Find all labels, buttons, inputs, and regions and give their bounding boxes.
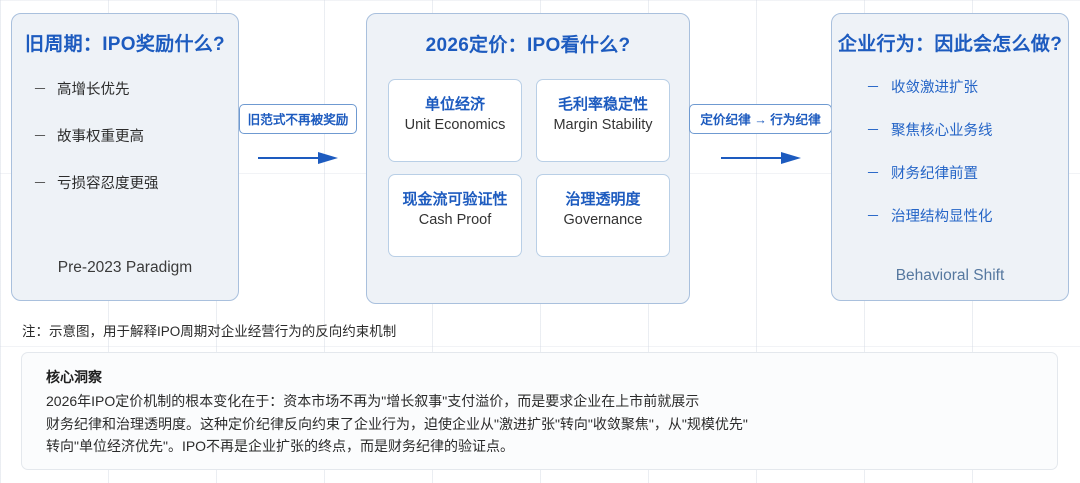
- panel-corporate-behavior: 企业行为：因此会怎么做? － 收敛激进扩张 － 聚焦核心业务线 － 财务纪律前置…: [831, 13, 1069, 301]
- criteria-card[interactable]: 治理透明度 Governance: [536, 174, 670, 257]
- criteria-card[interactable]: 单位经济 Unit Economics: [388, 79, 522, 162]
- connector-pricing-to-behavior-label: 定价纪律 → 行为纪律: [689, 104, 832, 134]
- panel-corporate-behavior-title: 企业行为：因此会怎么做?: [832, 29, 1068, 56]
- arrow-right-icon: [256, 151, 340, 165]
- criteria-card-title-en: Unit Economics: [405, 116, 506, 136]
- dash-icon: －: [866, 209, 880, 223]
- criteria-card-title-cn: 现金流可验证性: [402, 191, 507, 210]
- dash-icon: －: [866, 80, 880, 94]
- core-insight-line: 财务纪律和治理透明度。这种定价纪律反向约束了企业行为，迫使企业从"激进扩张"转向…: [46, 413, 1057, 436]
- connector-pricing-to-behavior: 定价纪律 → 行为纪律: [689, 104, 832, 165]
- criteria-card[interactable]: 毛利率稳定性 Margin Stability: [536, 79, 670, 162]
- dash-icon: －: [33, 129, 47, 143]
- pricing-criteria-grid: 单位经济 Unit Economics 毛利率稳定性 Margin Stabil…: [388, 79, 670, 257]
- panel-old-cycle: 旧周期：IPO奖励什么? － 高增长优先 － 故事权重更高 － 亏损容忍度更强 …: [11, 13, 239, 301]
- panel-2026-pricing-title: 2026定价：IPO看什么?: [367, 30, 689, 57]
- list-item: － 治理结构显性化: [866, 205, 1068, 226]
- criteria-card-title-en: Margin Stability: [553, 116, 652, 136]
- criteria-card-title-cn: 治理透明度: [565, 191, 640, 210]
- criteria-card-title-en: Cash Proof: [419, 211, 492, 231]
- connector-old-to-pricing-label: 旧范式不再被奖励: [239, 104, 357, 134]
- list-item-label: 亏损容忍度更强: [57, 172, 159, 193]
- list-item: － 亏损容忍度更强: [33, 172, 238, 193]
- list-item-label: 治理结构显性化: [891, 205, 993, 226]
- list-item-label: 故事权重更高: [57, 125, 144, 146]
- dash-icon: －: [866, 123, 880, 137]
- behavior-footnote: Behavioral Shift: [832, 267, 1068, 285]
- list-item-label: 聚焦核心业务线: [891, 119, 993, 140]
- core-insight-title: 核心洞察: [46, 367, 1057, 387]
- criteria-card[interactable]: 现金流可验证性 Cash Proof: [388, 174, 522, 257]
- panel-2026-pricing: 2026定价：IPO看什么? 单位经济 Unit Economics 毛利率稳定…: [366, 13, 690, 304]
- connector-old-to-pricing: 旧范式不再被奖励: [239, 104, 357, 165]
- criteria-card-title-cn: 单位经济: [425, 96, 485, 115]
- core-insight-box: 核心洞察 2026年IPO定价机制的根本变化在于：资本市场不再为"增长叙事"支付…: [21, 352, 1058, 470]
- dash-icon: －: [866, 166, 880, 180]
- list-item-label: 财务纪律前置: [891, 162, 978, 183]
- core-insight-line: 2026年IPO定价机制的根本变化在于：资本市场不再为"增长叙事"支付溢价，而是…: [46, 390, 1057, 413]
- list-item: － 故事权重更高: [33, 125, 238, 146]
- old-cycle-footnote: Pre-2023 Paradigm: [12, 259, 238, 277]
- criteria-card-title-cn: 毛利率稳定性: [558, 96, 648, 115]
- list-item-label: 高增长优先: [57, 78, 130, 99]
- core-insight-line: 转向"单位经济优先"。IPO不再是企业扩张的终点，而是财务纪律的验证点。: [46, 435, 1057, 458]
- list-item: － 收敛激进扩张: [866, 76, 1068, 97]
- list-item: － 聚焦核心业务线: [866, 119, 1068, 140]
- behavior-bullet-list: － 收敛激进扩张 － 聚焦核心业务线 － 财务纪律前置 － 治理结构显性化: [832, 76, 1068, 226]
- criteria-card-title-en: Governance: [564, 211, 643, 231]
- old-cycle-bullet-list: － 高增长优先 － 故事权重更高 － 亏损容忍度更强: [12, 78, 238, 193]
- dash-icon: －: [33, 176, 47, 190]
- dash-icon: －: [33, 82, 47, 96]
- list-item: － 高增长优先: [33, 78, 238, 99]
- list-item-label: 收敛激进扩张: [891, 76, 978, 97]
- arrow-right-icon: [719, 151, 803, 165]
- panel-old-cycle-title: 旧周期：IPO奖励什么?: [12, 29, 238, 56]
- diagram-stage: 旧周期：IPO奖励什么? － 高增长优先 － 故事权重更高 － 亏损容忍度更强 …: [0, 0, 1080, 483]
- list-item: － 财务纪律前置: [866, 162, 1068, 183]
- diagram-note: 注：示意图，用于解释IPO周期对企业经营行为的反向约束机制: [22, 320, 396, 340]
